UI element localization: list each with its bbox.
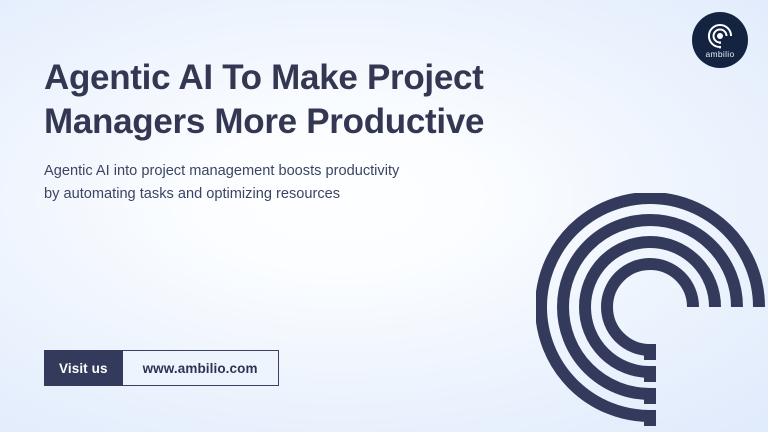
slide-canvas: ambilio Agentic AI To Make Project Manag… bbox=[0, 0, 768, 432]
visit-us-label: Visit us bbox=[44, 350, 123, 386]
subtitle-line-2: by automating tasks and optimizing resou… bbox=[44, 183, 544, 206]
visit-us-cta[interactable]: Visit us www.ambilio.com bbox=[44, 350, 279, 386]
headline-line-2: Managers More Productive bbox=[44, 100, 564, 144]
website-url-link[interactable]: www.ambilio.com bbox=[123, 350, 279, 386]
concentric-spiral-graphic bbox=[536, 193, 768, 432]
page-title: Agentic AI To Make Project Managers More… bbox=[44, 56, 564, 144]
logo-wordmark: ambilio bbox=[705, 50, 734, 59]
ambilio-logo-badge[interactable]: ambilio bbox=[692, 12, 748, 68]
ambilio-spiral-mark-icon bbox=[707, 23, 733, 49]
page-subtitle: Agentic AI into project management boost… bbox=[44, 160, 544, 206]
headline-line-1: Agentic AI To Make Project bbox=[44, 56, 564, 100]
subtitle-line-1: Agentic AI into project management boost… bbox=[44, 160, 544, 183]
